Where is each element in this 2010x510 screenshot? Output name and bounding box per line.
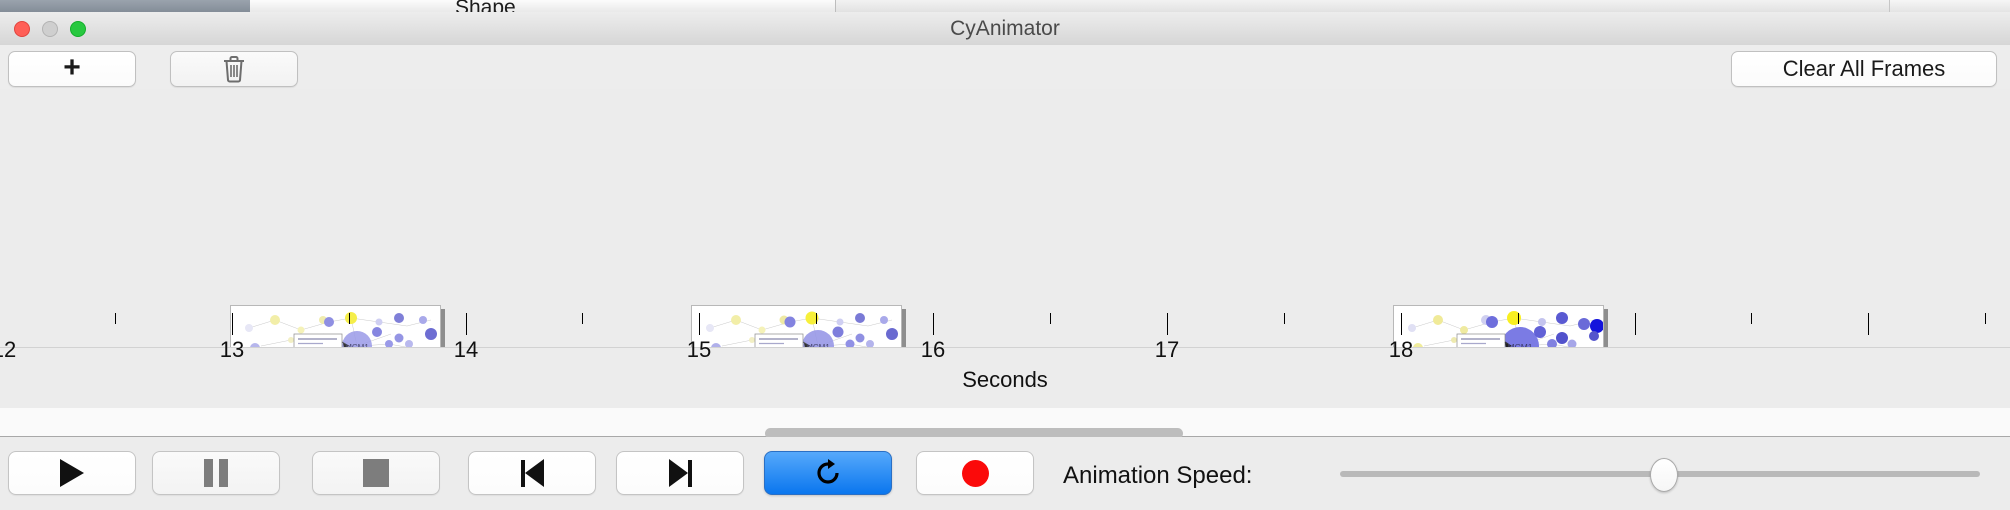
title-bar: CyAnimator xyxy=(0,12,2010,46)
background-window-segment xyxy=(710,0,836,12)
ruler-tick-minor xyxy=(582,313,583,324)
background-window-segment xyxy=(595,0,711,12)
timeline-ruler[interactable]: 12 13 14 15 16 17 18 Seconds xyxy=(0,313,2010,347)
slider-thumb[interactable] xyxy=(1650,458,1678,492)
timeline-scrollbar[interactable] xyxy=(0,408,2010,437)
toolbar: + Clear All Frames xyxy=(0,45,2010,90)
ruler-tick-major xyxy=(1868,313,1869,335)
animation-speed-label: Animation Speed: xyxy=(1063,462,1252,490)
ruler-tick-minor xyxy=(115,313,116,324)
stop-icon xyxy=(363,459,389,487)
ruler-label: 14 xyxy=(454,337,478,363)
skip-to-start-button[interactable] xyxy=(468,451,596,495)
background-window-label: Shape xyxy=(455,0,516,12)
background-window-segment xyxy=(250,0,371,12)
ruler-tick-minor xyxy=(1518,313,1519,324)
animation-speed-slider[interactable] xyxy=(1340,471,1980,477)
ruler-tick-minor xyxy=(349,313,350,324)
trash-icon xyxy=(221,55,247,83)
ruler-label: 13 xyxy=(220,337,244,363)
ruler-tick-major xyxy=(232,313,233,335)
ruler-label: 12 xyxy=(0,337,16,363)
loop-icon xyxy=(813,458,843,488)
record-icon xyxy=(962,460,989,487)
ruler-tick-major xyxy=(1635,313,1636,335)
background-window-strip: Shape xyxy=(0,0,2010,12)
timeline-panel[interactable]: MCM1 xyxy=(0,89,2010,348)
ruler-tick-major xyxy=(699,313,700,335)
record-button[interactable] xyxy=(916,451,1034,495)
ruler-tick-minor xyxy=(1050,313,1051,324)
pause-icon xyxy=(204,459,228,487)
ruler-label: 16 xyxy=(921,337,945,363)
play-icon xyxy=(60,459,84,487)
skip-to-end-button[interactable] xyxy=(616,451,744,495)
cyanimator-window: Shape CyAnimator + Clear All Frames xyxy=(0,0,2010,510)
ruler-tick-minor xyxy=(1985,313,1986,324)
play-button[interactable] xyxy=(8,451,136,495)
skip-to-end-icon xyxy=(669,459,692,487)
ruler-label: 17 xyxy=(1155,337,1179,363)
ruler-label: 15 xyxy=(687,337,711,363)
ruler-tick-major xyxy=(1401,313,1402,335)
clear-all-frames-label: Clear All Frames xyxy=(1783,56,1946,82)
ruler-tick-major xyxy=(466,313,467,335)
ruler-tick-major xyxy=(933,313,934,335)
stop-button[interactable] xyxy=(312,451,440,495)
background-window-right-edge xyxy=(1889,0,2010,12)
clear-all-frames-button[interactable]: Clear All Frames xyxy=(1731,51,1997,87)
ruler-tick-minor xyxy=(1751,313,1752,324)
pause-button[interactable] xyxy=(152,451,280,495)
axis-title: Seconds xyxy=(0,367,2010,393)
transport-bar: Animation Speed: xyxy=(0,437,2010,510)
delete-frame-button[interactable] xyxy=(170,51,298,87)
ruler-label: 18 xyxy=(1389,337,1413,363)
ruler-tick-minor xyxy=(816,313,817,324)
window-title: CyAnimator xyxy=(0,12,2010,45)
loop-button[interactable] xyxy=(764,451,892,495)
background-window-dark-segment xyxy=(0,0,250,12)
skip-to-start-icon xyxy=(521,459,544,487)
add-frame-button[interactable]: + xyxy=(8,51,136,87)
ruler-tick-minor xyxy=(1284,313,1285,324)
ruler-tick-major xyxy=(1167,313,1168,335)
